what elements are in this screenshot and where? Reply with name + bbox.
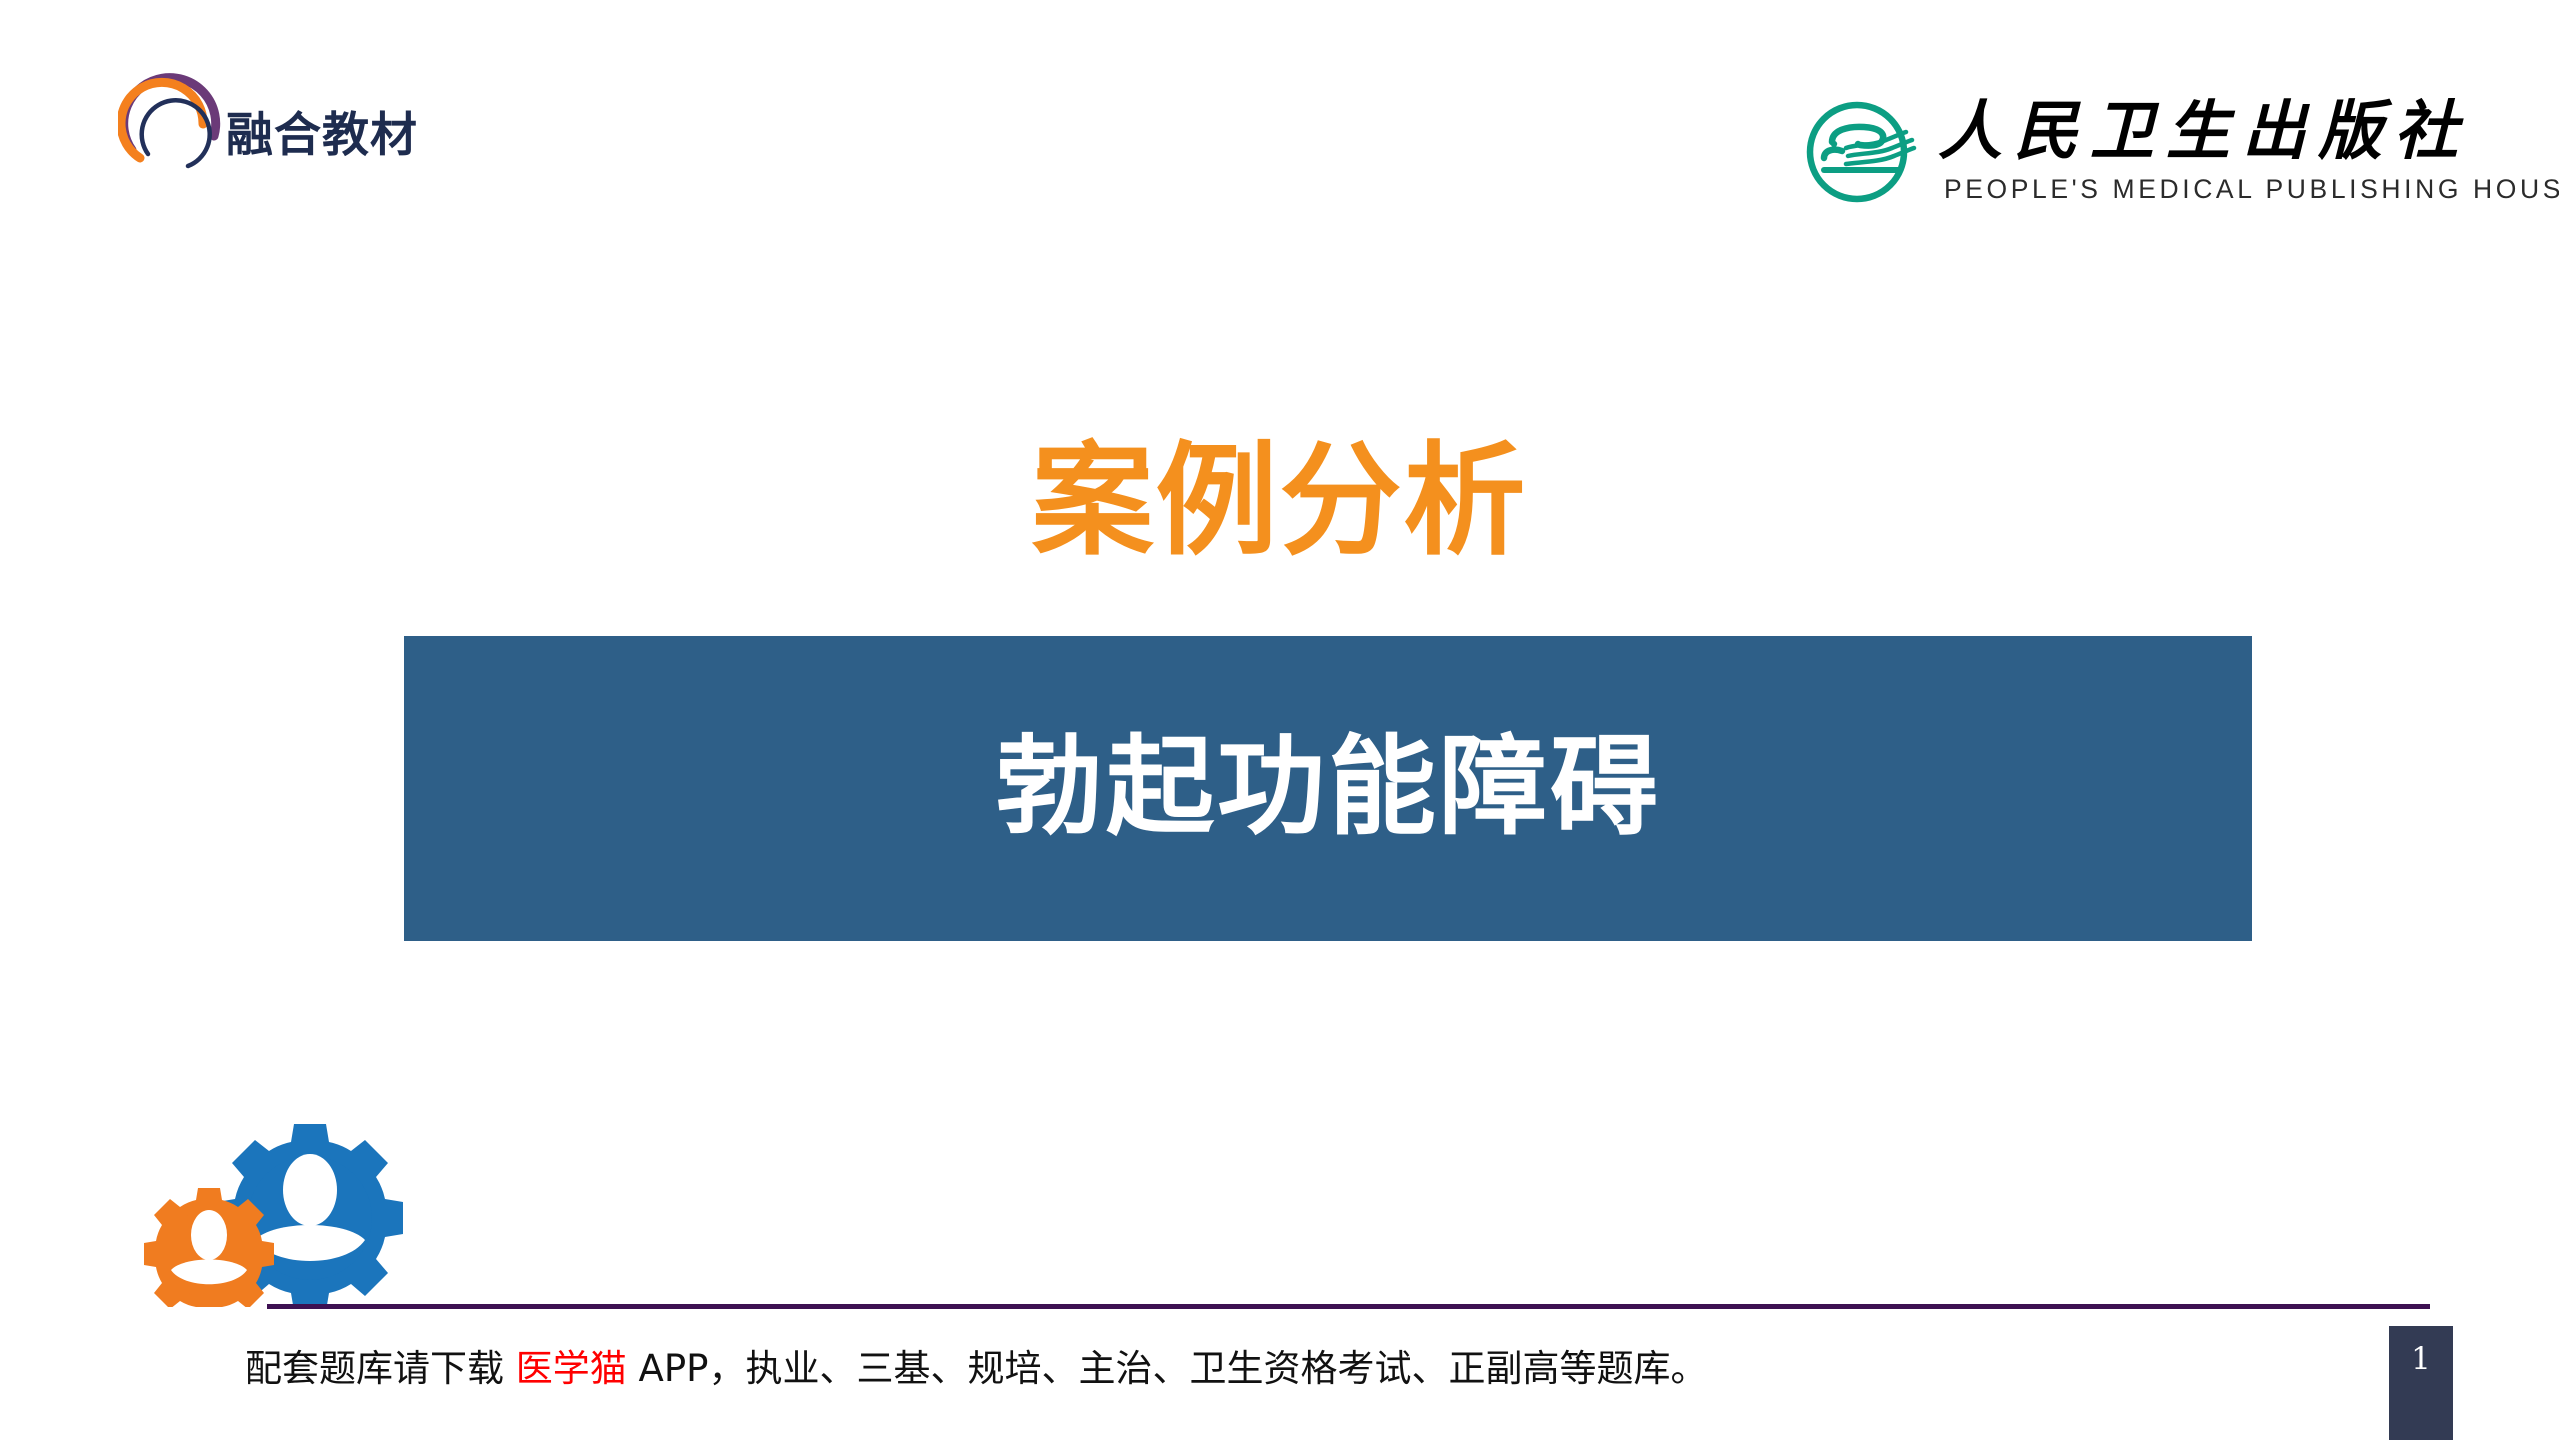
footer-note-suffix: APP，执业、三基、规培、主治、卫生资格考试、正副高等题库。 bbox=[627, 1347, 1708, 1390]
publisher-emblem-icon bbox=[1802, 96, 1920, 208]
small-gear-orange bbox=[144, 1188, 274, 1307]
footer-note-prefix: 配套题库请下载 bbox=[245, 1347, 516, 1390]
gears-svg bbox=[142, 1122, 422, 1307]
ronghe-jiaocai-label: 融合教材 bbox=[226, 112, 418, 159]
publisher-logo: 人民卫生出版社 PEOPLE'S MEDICAL PUBLISHING HOUS… bbox=[1802, 88, 2462, 210]
topic-banner: 勃起功能障碍 bbox=[404, 636, 2252, 941]
footer-divider bbox=[267, 1304, 2430, 1309]
footer-note-highlight: 医学猫 bbox=[516, 1347, 627, 1390]
publisher-english-name: PEOPLE'S MEDICAL PUBLISHING HOUSE bbox=[1944, 176, 2559, 203]
ronghe-jiaocai-logo: 融合教材 bbox=[118, 62, 448, 187]
publisher-chinese-name: 人民卫生出版社 bbox=[1938, 92, 2470, 172]
footer-note: 配套题库请下载 医学猫 APP，执业、三基、规培、主治、卫生资格考试、正副高等题… bbox=[245, 1342, 1707, 1396]
page-title: 案例分析 bbox=[0, 430, 2559, 574]
ronghe-ring-icon bbox=[118, 62, 240, 184]
topic-banner-label: 勃起功能障碍 bbox=[995, 729, 1661, 848]
gears-with-people-icon bbox=[142, 1122, 422, 1307]
slide-canvas: 融合教材 人民卫生出版社 PEOPLE'S MEDICAL PUBLISHING… bbox=[0, 0, 2559, 1440]
page-number: 1 bbox=[2389, 1344, 2453, 1375]
page-number-badge: 1 bbox=[2389, 1326, 2453, 1440]
